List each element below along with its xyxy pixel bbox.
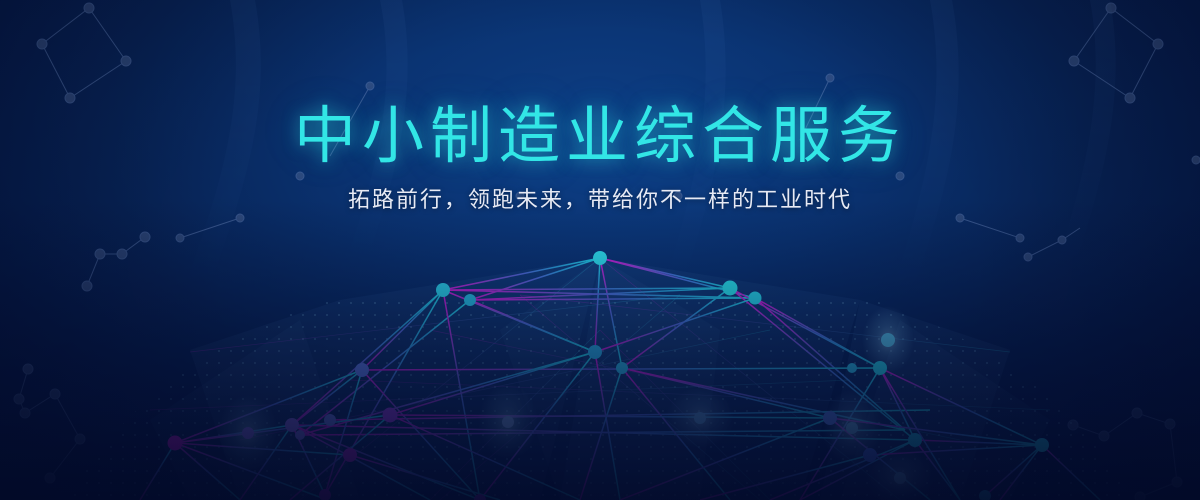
hero-banner: 中小制造业综合服务 拓路前行，领跑未来，带给你不一样的工业时代 xyxy=(0,0,1200,500)
page-title: 中小制造业综合服务 xyxy=(0,104,1200,170)
hero-text-block: 中小制造业综合服务 拓路前行，领跑未来，带给你不一样的工业时代 xyxy=(0,0,1200,214)
page-subtitle: 拓路前行，领跑未来，带给你不一样的工业时代 xyxy=(0,186,1200,214)
